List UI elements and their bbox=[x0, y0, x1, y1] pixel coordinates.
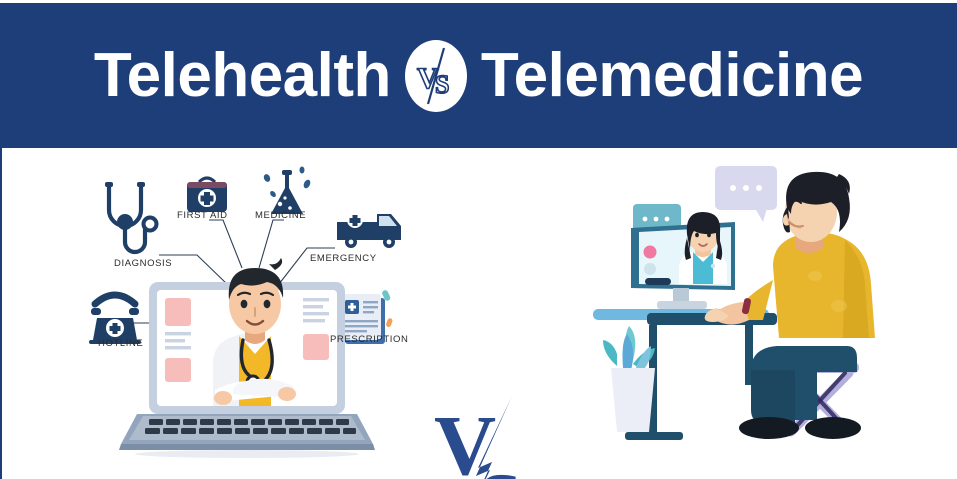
body-area: DIAGNOSIS FIRST AID MEDICINE EMERGENCY H… bbox=[0, 148, 957, 479]
label-emergency: EMERGENCY bbox=[310, 253, 377, 264]
telehealth-scene bbox=[87, 158, 447, 458]
flask-icon bbox=[263, 167, 312, 215]
label-prescription: PRESCRIPTION bbox=[330, 334, 408, 345]
laptop-graphic bbox=[119, 258, 375, 458]
label-medicine: MEDICINE bbox=[255, 210, 306, 221]
first-aid-kit-icon bbox=[187, 178, 227, 212]
center-vs-divider: V S bbox=[432, 396, 542, 479]
label-diagnosis: DIAGNOSIS bbox=[114, 258, 172, 269]
label-hotline: HOTLINE bbox=[98, 338, 143, 349]
infographic-page: Telehealth V S Telemedicine bbox=[0, 0, 957, 479]
title-left: Telehealth bbox=[94, 45, 391, 107]
screen-name-tag bbox=[645, 278, 671, 285]
call-button-mute bbox=[644, 263, 656, 275]
plant-graphic bbox=[603, 326, 655, 432]
label-first-aid: FIRST AID bbox=[177, 210, 228, 221]
call-button-end bbox=[644, 246, 657, 259]
ambulance-icon bbox=[337, 212, 401, 248]
patient-figure bbox=[705, 172, 875, 439]
vs-badge-icon: V S bbox=[408, 46, 464, 106]
telemedicine-scene bbox=[587, 156, 907, 456]
stethoscope-icon bbox=[105, 182, 157, 252]
vs-badge: V S bbox=[405, 40, 467, 112]
chat-bubble-large bbox=[715, 166, 777, 222]
remote-doctor-avatar bbox=[679, 212, 727, 284]
header-banner: Telehealth V S Telemedicine bbox=[0, 3, 957, 148]
title-right: Telemedicine bbox=[481, 45, 863, 107]
telephone-icon bbox=[89, 295, 141, 344]
